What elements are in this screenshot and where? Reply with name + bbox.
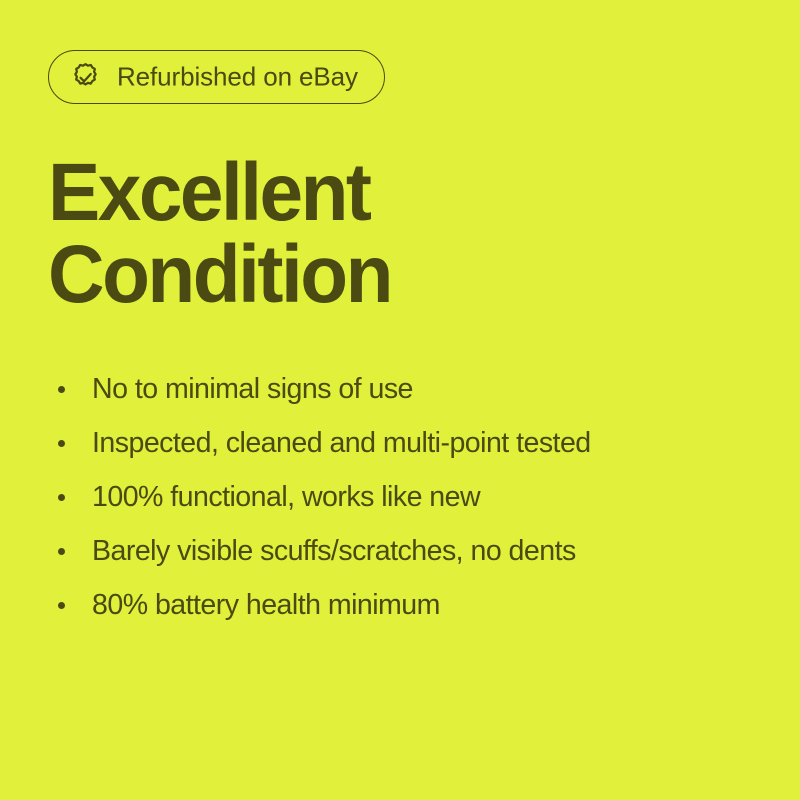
dot-bullet-icon: [58, 494, 65, 501]
dot-bullet-icon: [58, 440, 65, 447]
list-item-label: No to minimal signs of use: [92, 372, 413, 406]
condition-feature-list: No to minimal signs of use Inspected, cl…: [56, 362, 598, 632]
refurbished-condition-card: Refurbished on eBay Excellent Condition …: [0, 0, 800, 800]
page-title-line-1: Excellent: [48, 152, 391, 234]
refurbished-badge-label: Refurbished on eBay: [117, 64, 358, 90]
list-item-label: Inspected, cleaned and multi-point teste…: [92, 426, 591, 460]
verified-seal-check-icon: [70, 62, 101, 93]
list-item: 80% battery health minimum: [56, 578, 598, 632]
refurbished-badge: Refurbished on eBay: [48, 50, 385, 104]
list-item: No to minimal signs of use: [56, 362, 598, 416]
page-title-line-2: Condition: [48, 234, 391, 316]
dot-bullet-icon: [58, 602, 65, 609]
dot-bullet-icon: [58, 386, 65, 393]
dot-bullet-icon: [58, 548, 65, 555]
list-item: Inspected, cleaned and multi-point teste…: [56, 416, 598, 470]
list-item-label: Barely visible scuffs/scratches, no dent…: [92, 534, 576, 568]
list-item: Barely visible scuffs/scratches, no dent…: [56, 524, 598, 578]
list-item-label: 100% functional, works like new: [92, 480, 480, 514]
list-item-label: 80% battery health minimum: [92, 588, 440, 622]
page-title: Excellent Condition: [48, 152, 391, 316]
list-item: 100% functional, works like new: [56, 470, 598, 524]
